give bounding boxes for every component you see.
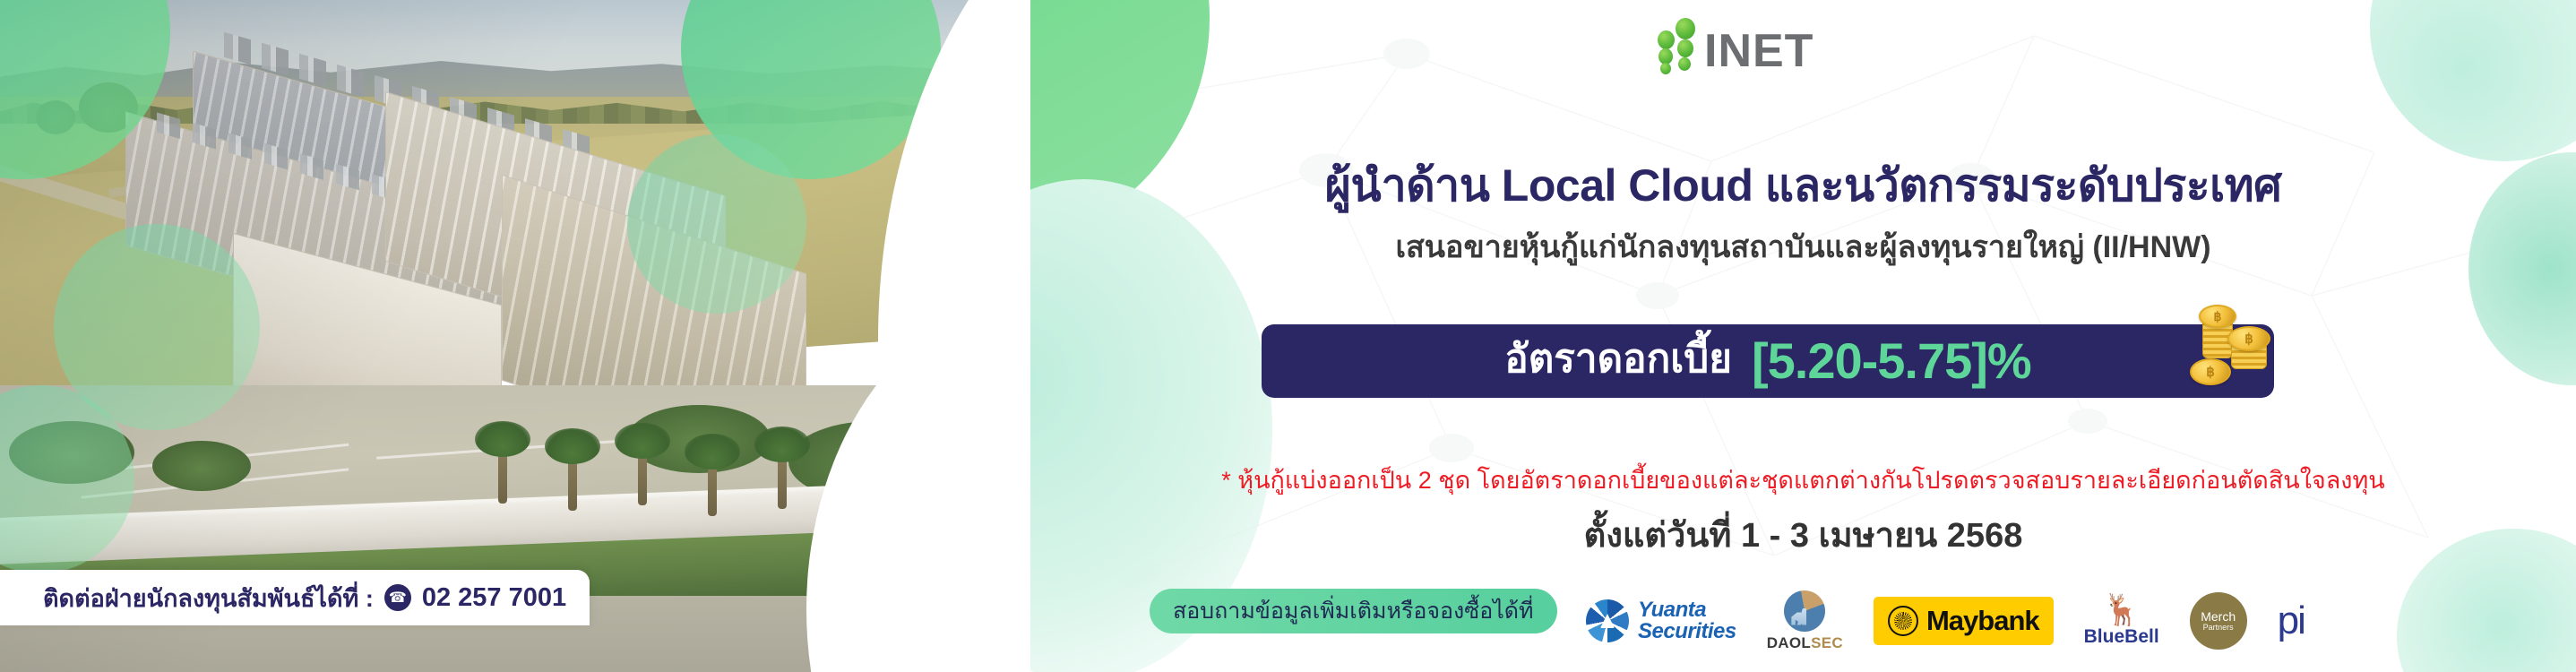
- interest-rate-block: อัตราดอกเบี้ย [5.20-5.75]% ฿ ฿ ฿: [1262, 324, 2274, 398]
- yuanta-line2: Securities: [1638, 621, 1736, 642]
- cta-button[interactable]: สอบถามข้อมูลเพิ่มเติมหรือจองซื้อได้ที่: [1150, 589, 1557, 633]
- contact-phone-number[interactable]: 02 257 7001: [422, 583, 566, 613]
- palm-tree: [498, 441, 507, 504]
- partner-logo-daol[interactable]: DAOLSEC: [1767, 590, 1843, 652]
- bluebell-label: BlueBell: [2084, 626, 2159, 648]
- interest-rate-value: [5.20-5.75]%: [1752, 336, 2031, 386]
- inet-dots-logo-icon: [1658, 16, 1699, 73]
- inet-logo: INET: [1658, 13, 1814, 73]
- contact-label: ติดต่อฝ่ายนักลงทุนสัมพันธ์ได้ที่ :: [43, 579, 374, 617]
- daol-text-bold: DAOL: [1767, 634, 1811, 651]
- shrub: [152, 441, 251, 491]
- yuanta-star-icon: [1586, 599, 1629, 642]
- bluebell-deer-icon: 🦌: [2102, 595, 2140, 625]
- partner-logo-maybank[interactable]: Maybank: [1874, 597, 2054, 645]
- yuanta-line1: Yuanta: [1638, 599, 1736, 621]
- palm-tree: [708, 453, 717, 516]
- merchant-line2: Partners: [2203, 623, 2234, 632]
- maybank-label: Maybank: [1926, 605, 2039, 637]
- partner-logo-bluebell[interactable]: 🦌 BlueBell: [2084, 595, 2159, 648]
- disclaimer-note: * หุ้นกู้แบ่งออกเป็น 2 ชุด โดยอัตราดอกเบ…: [1030, 461, 2576, 499]
- gold-coins-icon: ฿ ฿ ฿: [2184, 303, 2290, 409]
- palm-tree: [638, 443, 647, 505]
- promo-banner: INET ผู้นำด้าน Local Cloud และนวัตกรรมระ…: [0, 0, 2576, 672]
- inet-logo-text: INET: [1704, 30, 1814, 73]
- interest-rate-box: อัตราดอกเบี้ย [5.20-5.75]%: [1262, 324, 2274, 398]
- partner-logos: Yuanta Securities DAOLSEC Maybank 🦌 Blue…: [1586, 581, 2536, 661]
- partner-logo-pi[interactable]: pi: [2278, 603, 2305, 639]
- investor-relations-contact[interactable]: ติดต่อฝ่ายนักลงทุนสัมพันธ์ได้ที่ : ☎ 02 …: [0, 570, 590, 625]
- offer-date-range: ตั้งแต่วันที่ 1 - 3 เมษายน 2568: [1030, 507, 2576, 562]
- daol-text-light: SEC: [1811, 634, 1843, 651]
- palm-tree: [568, 448, 577, 511]
- phone-icon: ☎: [384, 584, 411, 611]
- partner-logo-yuanta[interactable]: Yuanta Securities: [1586, 599, 1736, 643]
- page-subtitle: เสนอขายหุ้นกู้แก่นักลงทุนสถาบันและผู้ลงท…: [1030, 222, 2576, 271]
- interest-rate-label: อัตราดอกเบี้ย: [1504, 340, 1732, 383]
- partner-logo-merchant[interactable]: Merch Partners: [2190, 592, 2247, 650]
- page-title: ผู้นำด้าน Local Cloud และนวัตกรรมระดับปร…: [1030, 151, 2576, 221]
- maybank-tiger-icon: [1888, 606, 1918, 636]
- daol-circle-icon: [1784, 590, 1825, 632]
- palm-tree: [778, 446, 787, 509]
- merchant-line1: Merch: [2201, 610, 2236, 624]
- decorative-bubble: [627, 134, 806, 314]
